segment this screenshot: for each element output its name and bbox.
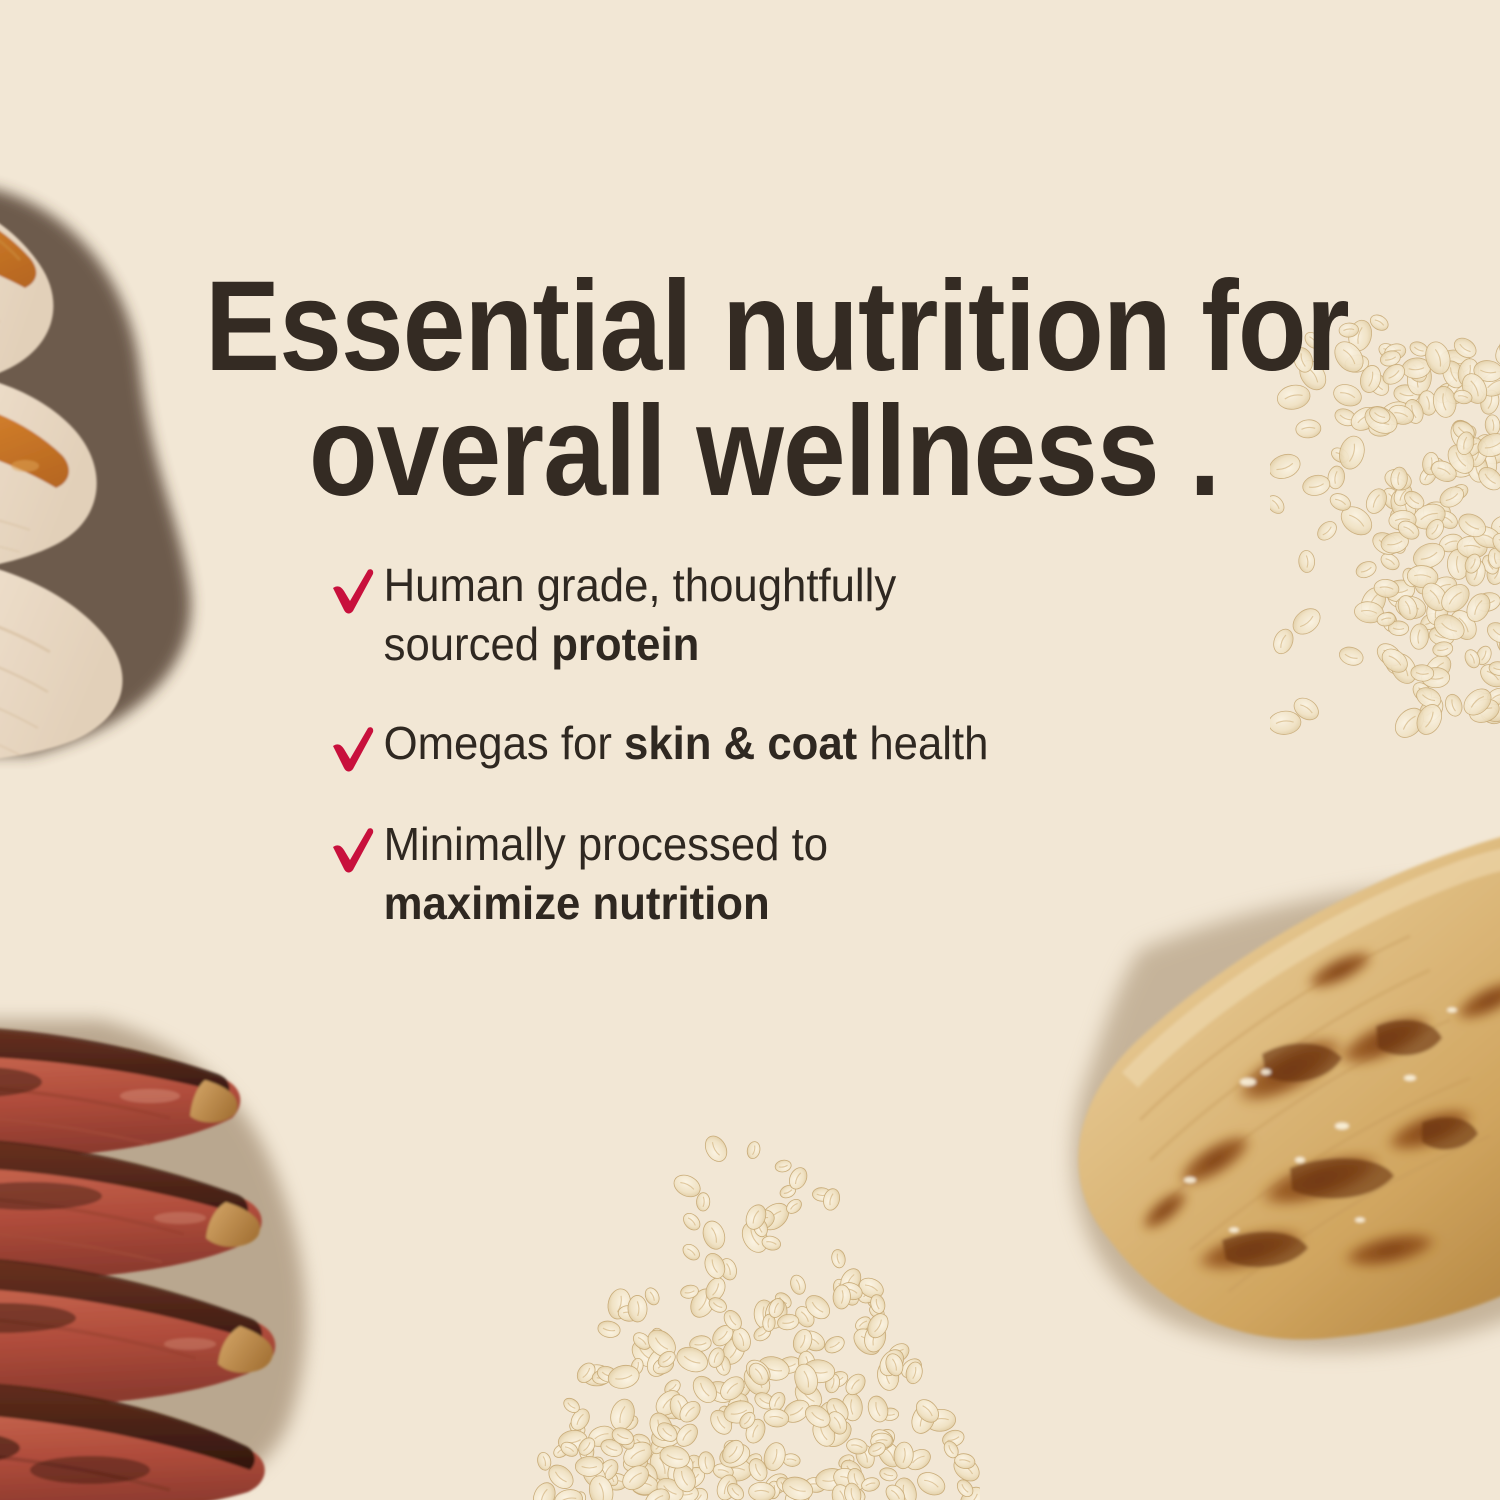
benefit-list: Human grade, thoughtfullysourced protein… — [330, 556, 1230, 932]
list-item: Minimally processed tomaximize nutrition — [330, 815, 1230, 933]
page-headline: Essential nutrition for overall wellness… — [205, 264, 1199, 515]
check-icon — [330, 825, 376, 873]
list-item: Human grade, thoughtfullysourced protein — [330, 556, 1230, 674]
list-item: Omegas for skin & coat health — [330, 714, 1230, 773]
promo-canvas: Essential nutrition for overall wellness… — [0, 0, 1500, 1500]
sliced-beef-steak-image — [0, 1000, 500, 1500]
check-icon — [330, 724, 376, 772]
headline-line-1: Essential nutrition for — [205, 264, 1199, 389]
check-icon — [330, 566, 376, 614]
scattered-oats-image — [530, 1110, 980, 1500]
list-item-label: Omegas for skin & coat health — [376, 714, 988, 773]
list-item-label: Minimally processed tomaximize nutrition — [376, 815, 828, 933]
list-item-label: Human grade, thoughtfullysourced protein — [376, 556, 896, 674]
headline-line-2: overall wellness . — [205, 389, 1199, 514]
